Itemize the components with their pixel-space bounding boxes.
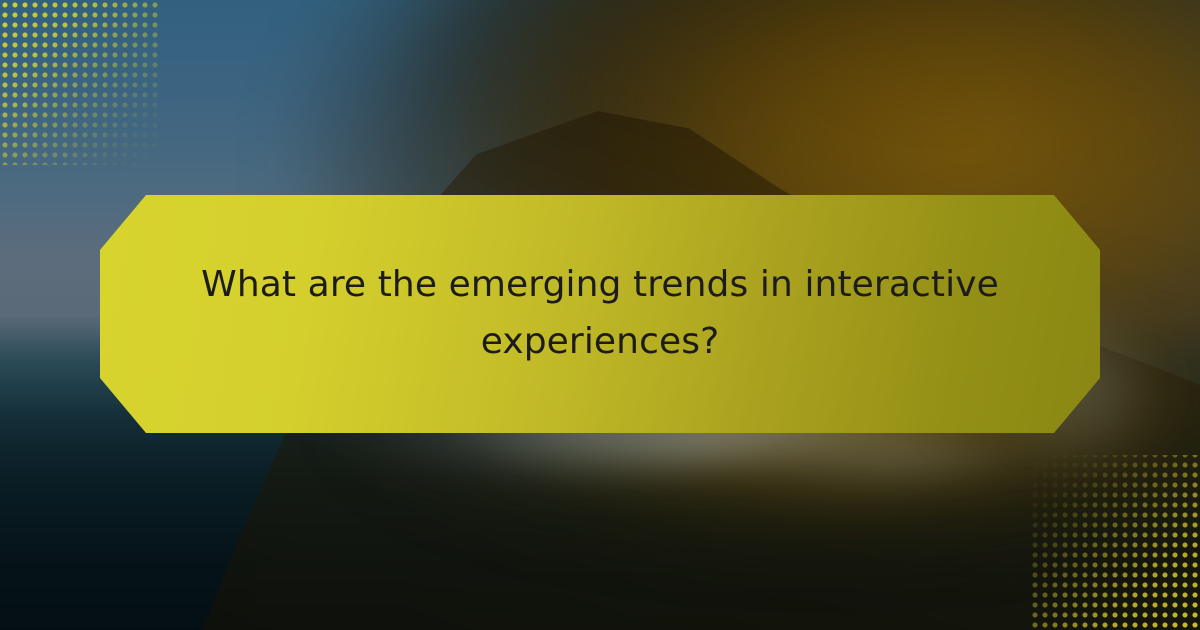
quote-card: What are the emerging trends in interact… — [0, 0, 1200, 630]
quote-banner: What are the emerging trends in interact… — [100, 195, 1100, 433]
quote-text: What are the emerging trends in interact… — [190, 257, 1010, 371]
halftone-dots-bottom-right-icon — [1030, 455, 1200, 630]
halftone-dots-top-left-icon — [0, 0, 160, 165]
